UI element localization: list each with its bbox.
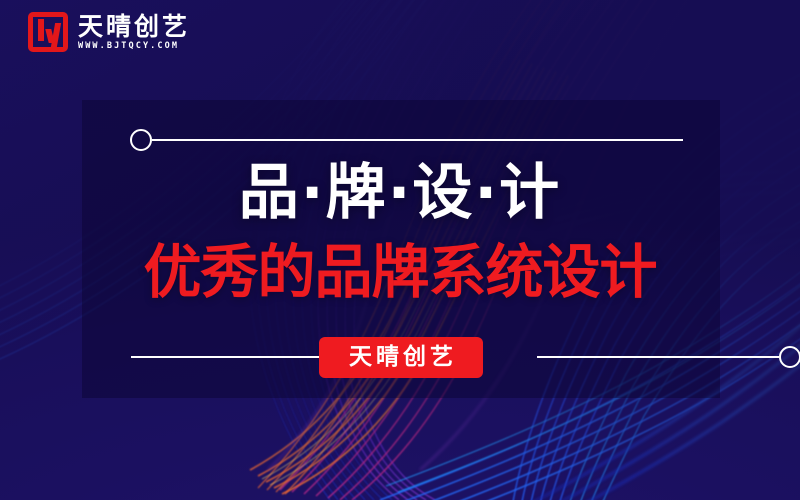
brand-design-banner: 天晴创艺 WWW.BJTQCY.COM 品·牌·设·计 优秀的品牌系统设计 天晴… [0,0,800,500]
logo-website: WWW.BJTQCY.COM [78,42,190,51]
logo-mark-stroke [45,29,54,43]
circle-outline-icon [779,346,800,368]
rule-line-right [537,356,779,358]
top-decorative-rule [130,129,683,151]
brand-logo[interactable]: 天晴创艺 WWW.BJTQCY.COM [28,12,190,52]
tianqing-logo-mark [28,12,68,52]
brand-badge-label: 天晴创艺 [345,346,457,369]
logo-text-group: 天晴创艺 WWW.BJTQCY.COM [78,14,190,51]
page-title: 品·牌·设·计 [0,163,800,223]
brand-badge[interactable]: 天晴创艺 [319,337,483,378]
circle-outline-icon [130,129,152,151]
page-subtitle: 优秀的品牌系统设计 [0,243,800,301]
logo-company-name: 天晴创艺 [78,14,190,39]
rule-line [152,139,683,141]
